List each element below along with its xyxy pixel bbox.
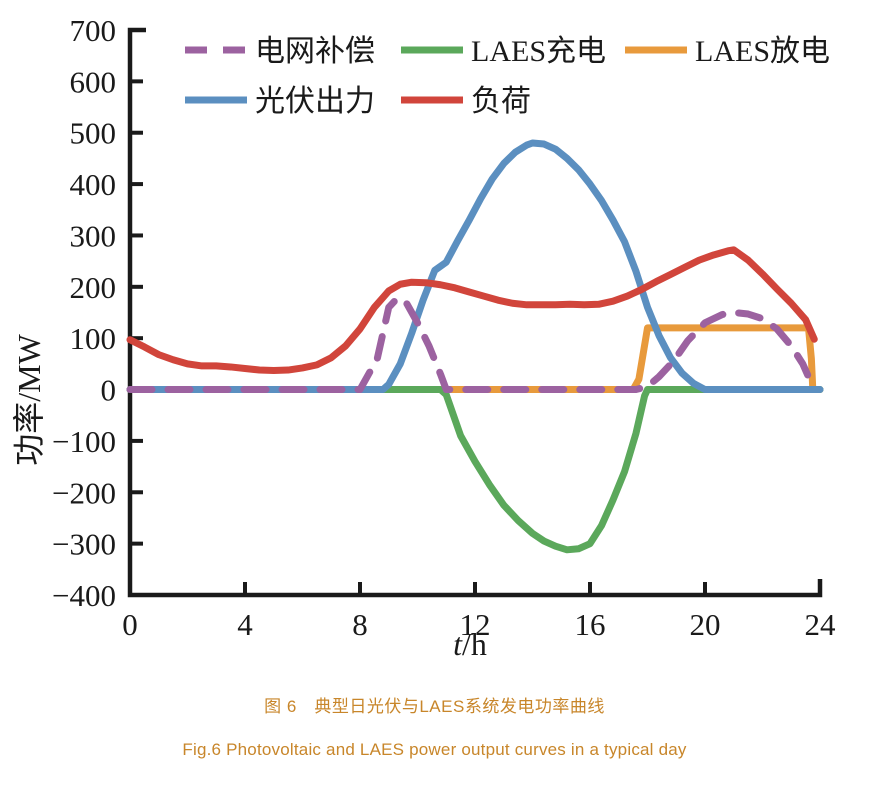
x-axis-tick-label: 24	[805, 607, 837, 642]
series-line-laes_discharge	[130, 328, 820, 390]
y-axis-tick-label: −200	[52, 475, 116, 510]
series-line-load	[130, 250, 814, 371]
y-axis-tick-label: 700	[70, 13, 117, 48]
series-line-laes_charge	[130, 390, 820, 550]
legend-label: LAES放电	[695, 35, 830, 68]
y-axis-title: 功率/MW	[11, 333, 47, 465]
legend-label: 光伏出力	[255, 85, 375, 118]
legend-item-2: LAES放电	[625, 35, 830, 68]
x-axis-tick-label: 16	[575, 607, 606, 642]
y-axis-tick-label: 200	[70, 270, 117, 305]
y-axis-tick-label: 500	[70, 116, 117, 151]
legend-item-0: 光伏出力	[185, 85, 375, 118]
figure-container: −400−300−200−100010020030040050060070004…	[0, 0, 869, 797]
y-axis-tick-label: 400	[70, 167, 117, 202]
legend-label: 电网补偿	[255, 35, 375, 68]
x-axis-title: t /h	[453, 626, 487, 662]
series-line-grid_compensation	[130, 298, 813, 389]
figure-caption-english: Fig.6 Photovoltaic and LAES power output…	[0, 740, 869, 760]
chart-legend: 电网补偿LAES充电LAES放电光伏出力负荷	[185, 35, 830, 118]
y-axis-tick-label: 600	[70, 64, 117, 99]
x-axis-tick-label: 4	[237, 607, 253, 642]
x-axis-tick-label: 8	[352, 607, 368, 642]
series-line-pv_output	[130, 143, 820, 390]
legend-item-0: 电网补偿	[185, 35, 375, 68]
y-axis-tick-label: 100	[70, 321, 117, 356]
y-axis-tick-label: −400	[52, 578, 116, 613]
legend-label: LAES充电	[471, 35, 606, 68]
y-axis-tick-label: 0	[101, 373, 117, 408]
x-axis-tick-label: 20	[690, 607, 721, 642]
x-axis-title-unit: /h	[462, 626, 487, 662]
legend-item-1: LAES充电	[401, 35, 606, 68]
y-axis-tick-label: −300	[52, 527, 116, 562]
legend-item-1: 负荷	[401, 85, 531, 118]
chart-series	[130, 143, 820, 550]
chart-plot: −400−300−200−100010020030040050060070004…	[0, 0, 869, 680]
figure-caption-chinese: 图 6 典型日光伏与LAES系统发电功率曲线	[0, 692, 869, 717]
x-axis-tick-label: 0	[122, 607, 138, 642]
y-axis-tick-label: −100	[52, 424, 116, 459]
legend-label: 负荷	[471, 85, 531, 118]
y-axis-tick-label: 300	[70, 218, 117, 253]
